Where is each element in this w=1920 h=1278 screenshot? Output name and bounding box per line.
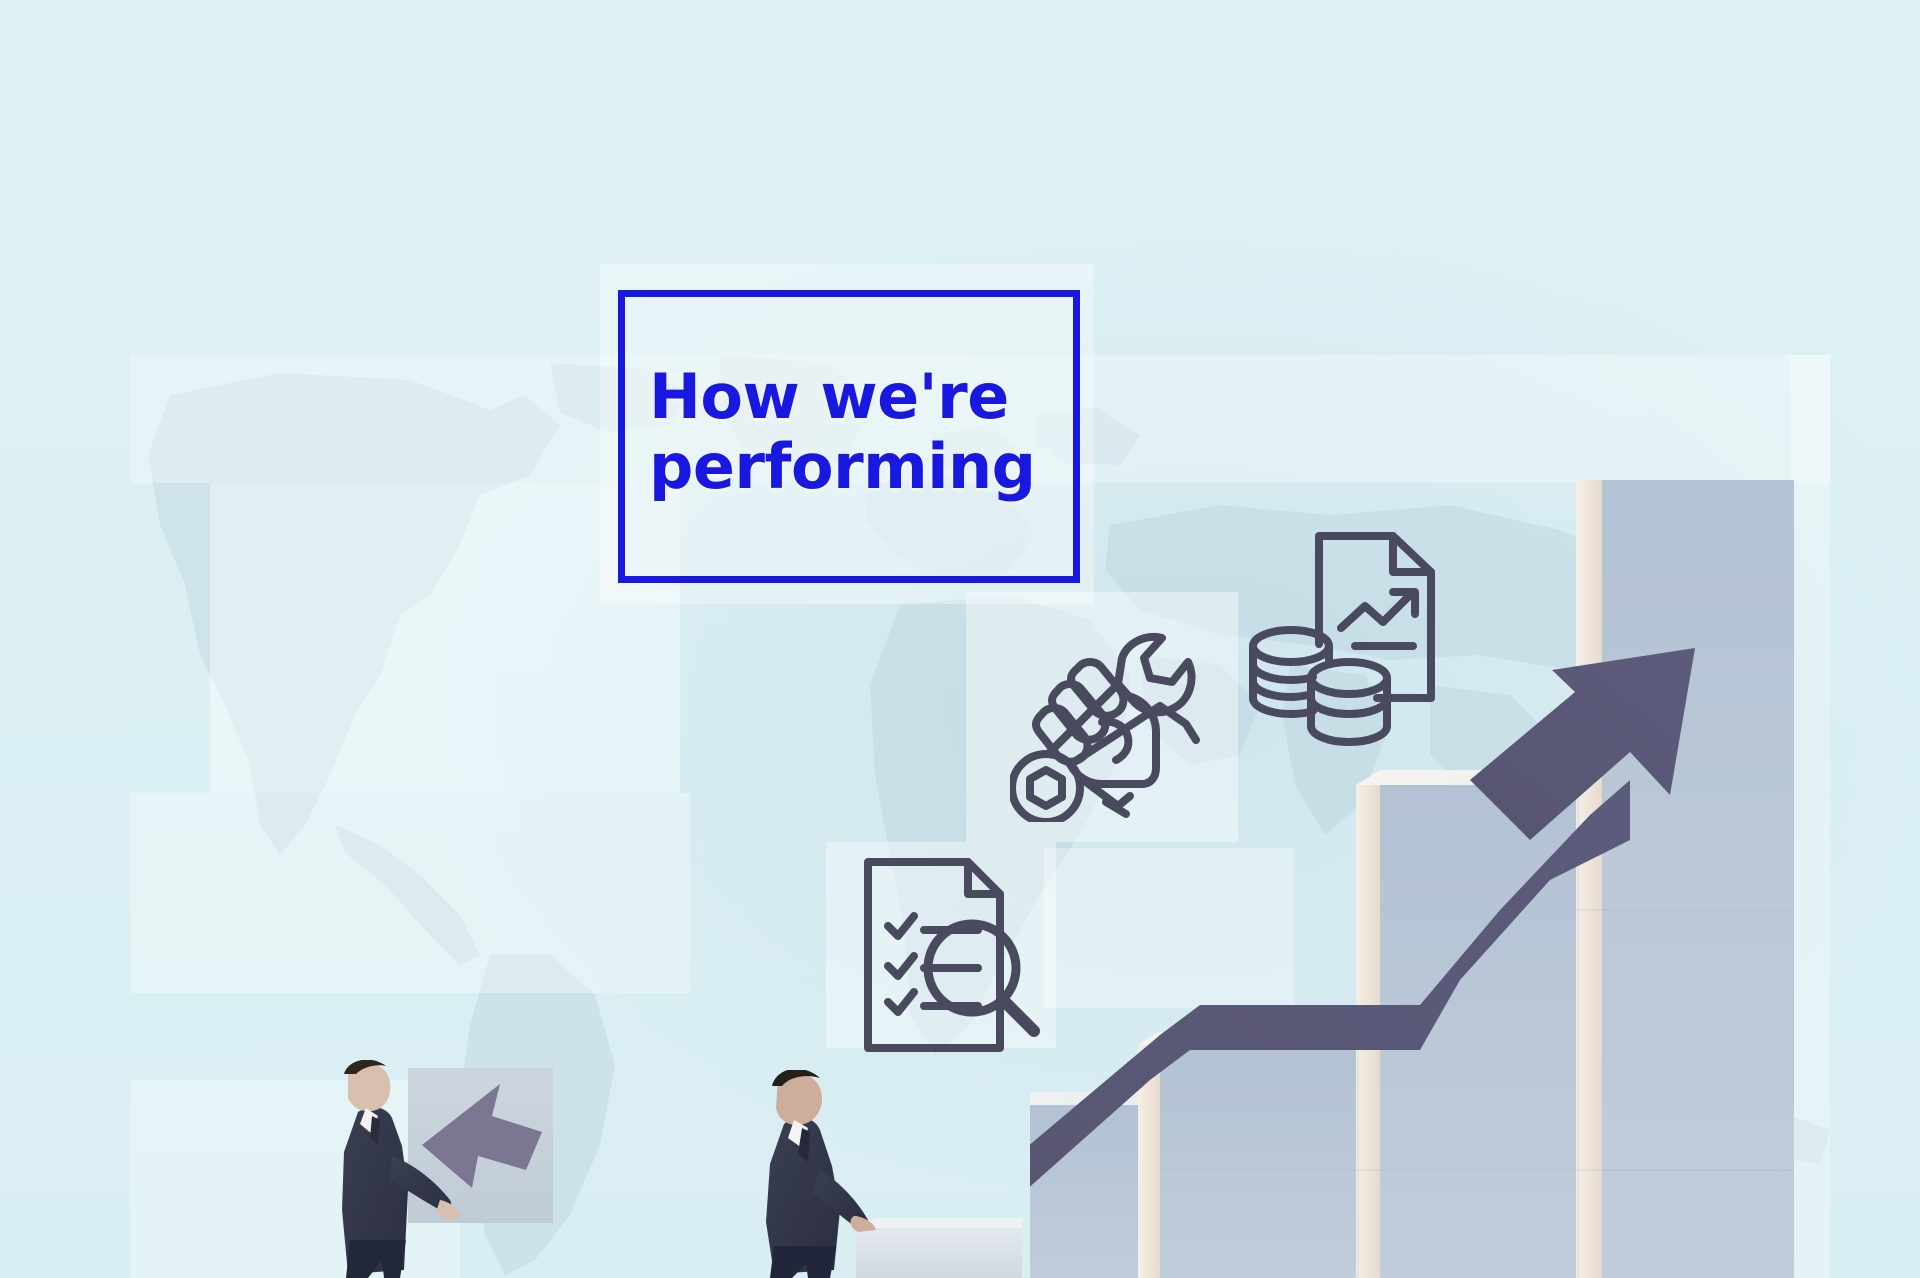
title-card: How we're performing bbox=[618, 290, 1080, 583]
businessman-carrying-box bbox=[330, 1060, 600, 1278]
hand-wrench-icon bbox=[1010, 592, 1230, 822]
poster-canvas: How we're performing bbox=[0, 0, 1920, 1278]
businessman-pushing-block bbox=[750, 1070, 1050, 1278]
coins-report-icon bbox=[1245, 520, 1465, 750]
page-title: How we're performing bbox=[649, 362, 1049, 501]
panel-mid-left bbox=[130, 793, 690, 993]
checklist-search-icon bbox=[858, 850, 1058, 1060]
panel-left-large bbox=[210, 483, 680, 793]
